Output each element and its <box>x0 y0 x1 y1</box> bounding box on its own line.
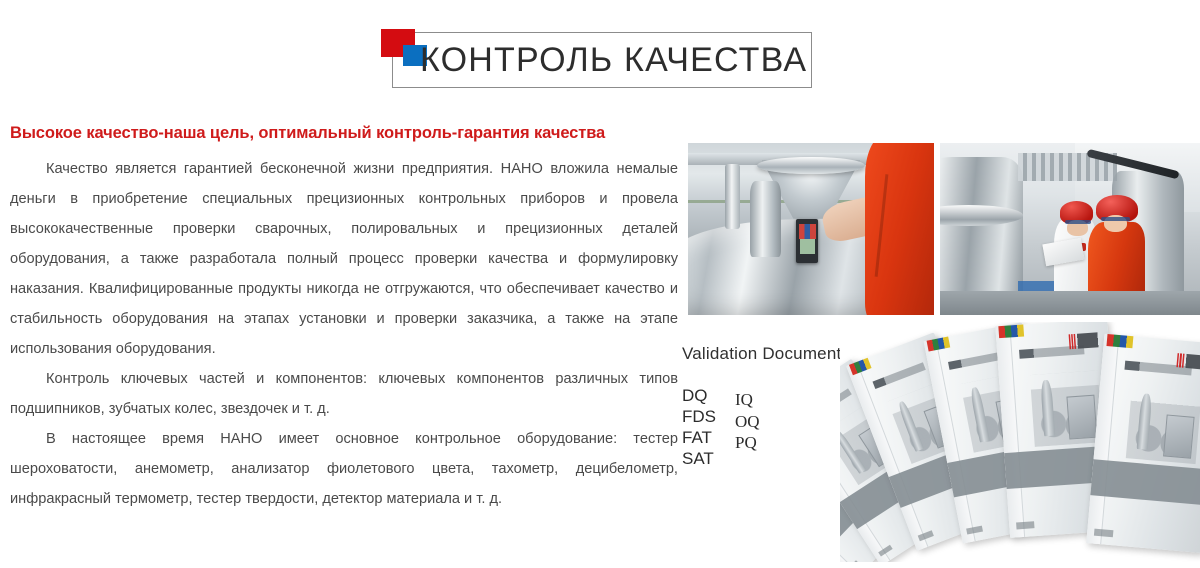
validation-documents-binders-photo <box>840 322 1200 562</box>
validation-codes-column-1: DQ FDS FAT SAT <box>682 385 716 469</box>
validation-code-sat: SAT <box>682 448 716 469</box>
validation-codes-column-2: IQ OQ PQ <box>735 389 760 454</box>
paragraph-quality-policy: Качество является гарантией бесконечной … <box>10 154 678 364</box>
article-text-column: Высокое качество-наша цель, оптимальный … <box>10 122 678 514</box>
binder-cover-machine-illustration <box>1030 370 1102 447</box>
binder-title-bar <box>872 362 926 389</box>
tank-valve-pipe <box>725 164 740 229</box>
page-title: КОНТРОЛЬ КАЧЕСТВА <box>420 34 812 86</box>
quality-inspection-instrument-photo <box>688 143 934 315</box>
safety-goggles-right-icon <box>1101 217 1130 221</box>
tank-cylinder-fitting <box>750 181 782 257</box>
inspectors-with-helmets-photo <box>940 143 1200 315</box>
anuo-brand-logo-icon <box>1175 353 1200 371</box>
validation-code-fds: FDS <box>682 406 716 427</box>
section-headline: Высокое качество-наша цель, оптимальный … <box>10 122 678 144</box>
binder-index-tabs-icon <box>1107 334 1133 348</box>
binder-cover-machine-illustration <box>1126 387 1200 464</box>
validation-code-iq: IQ <box>735 389 760 411</box>
factory-floor <box>940 291 1200 315</box>
funnel-rim <box>757 157 865 174</box>
safety-goggles-left-icon <box>1065 220 1091 224</box>
anuo-brand-logo-icon <box>1067 332 1102 349</box>
validation-code-oq: OQ <box>735 411 760 433</box>
document-binder <box>1086 334 1200 553</box>
binder-bottom-code <box>847 560 860 562</box>
quality-control-page: КОНТРОЛЬ КАЧЕСТВА Высокое качество-наша … <box>0 0 1200 568</box>
paragraph-key-components: Контроль ключевых частей и компонентов: … <box>10 364 678 424</box>
binder-bottom-code <box>1016 521 1034 529</box>
validation-code-fat: FAT <box>682 427 716 448</box>
binder-index-tabs-icon <box>999 324 1024 337</box>
device-keypad <box>799 224 816 239</box>
validation-code-pq: PQ <box>735 432 760 454</box>
validation-documents-label: Validation Documents <box>682 344 850 364</box>
operator-orange-shirt <box>865 143 934 315</box>
validation-code-dq: DQ <box>682 385 716 406</box>
paragraph-inspection-equipment: В настоящее время НАНО имеет основное ко… <box>10 424 678 514</box>
binder-grey-band <box>1090 459 1200 505</box>
